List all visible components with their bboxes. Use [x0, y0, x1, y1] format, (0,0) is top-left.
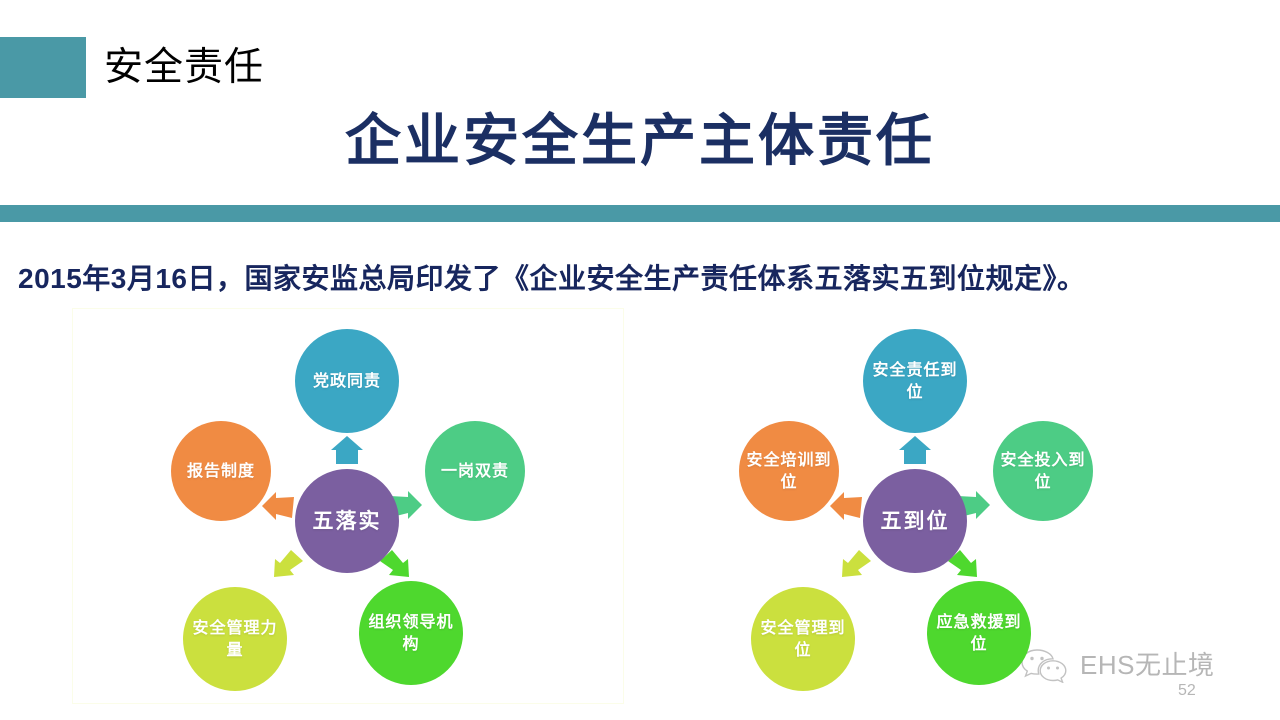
watermark-text: EHS无止境: [1080, 650, 1214, 680]
node-label: 应急救援到位: [931, 611, 1027, 655]
header-divider-bar: [0, 205, 1280, 222]
diagram-node-top[interactable]: 安全责任到位: [863, 329, 967, 433]
subtitle-text: 2015年3月16日，国家安监总局印发了《企业安全生产责任体系五落实五到位规定》…: [18, 259, 1086, 299]
diagram-node-bottom-left[interactable]: 安全管理力量: [183, 587, 287, 691]
diagram-wuluoshi: 党政同责 一岗双责 组织领导机构 安全管理力量 报告制度 五落实: [72, 308, 624, 704]
arrow-down-left-icon: [271, 549, 305, 579]
diagram-node-right[interactable]: 安全投入到位: [993, 421, 1093, 521]
diagram-node-right[interactable]: 一岗双责: [425, 421, 525, 521]
diagram-node-top[interactable]: 党政同责: [295, 329, 399, 433]
diagram-wudaowei: 安全责任到位 安全投入到位 应急救援到位 安全管理到位 安全培训到位 五到位: [640, 308, 1192, 704]
watermark: EHS无止境: [1020, 647, 1214, 683]
node-label: 五到位: [881, 508, 950, 534]
node-label: 安全管理到位: [755, 617, 851, 661]
page-number: 52: [1178, 682, 1196, 700]
diagram-node-bottom-right[interactable]: 组织领导机构: [359, 581, 463, 685]
arrow-left-icon: [829, 491, 863, 521]
diagram-node-bottom-right[interactable]: 应急救援到位: [927, 581, 1031, 685]
node-label: 安全管理力量: [187, 617, 283, 661]
node-label: 安全责任到位: [867, 359, 963, 403]
header-accent-block: [0, 37, 86, 98]
header-kicker: 安全责任: [104, 40, 264, 96]
arrow-up-icon: [330, 435, 364, 465]
diagram-node-center[interactable]: 五到位: [863, 469, 967, 573]
arrow-up-icon: [898, 435, 932, 465]
page-title: 企业安全生产主体责任: [0, 106, 1280, 176]
diagram-node-left[interactable]: 报告制度: [171, 421, 271, 521]
diagram-node-bottom-left[interactable]: 安全管理到位: [751, 587, 855, 691]
node-label: 五落实: [313, 508, 382, 534]
wechat-icon: [1020, 647, 1072, 683]
arrow-down-left-icon: [839, 549, 873, 579]
diagram-node-left[interactable]: 安全培训到位: [739, 421, 839, 521]
node-label: 报告制度: [187, 460, 255, 482]
arrow-left-icon: [261, 491, 295, 521]
diagram-node-center[interactable]: 五落实: [295, 469, 399, 573]
node-label: 组织领导机构: [363, 611, 459, 655]
node-label: 安全培训到位: [743, 449, 835, 493]
node-label: 安全投入到位: [997, 449, 1089, 493]
node-label: 一岗双责: [441, 460, 509, 482]
node-label: 党政同责: [313, 370, 381, 392]
